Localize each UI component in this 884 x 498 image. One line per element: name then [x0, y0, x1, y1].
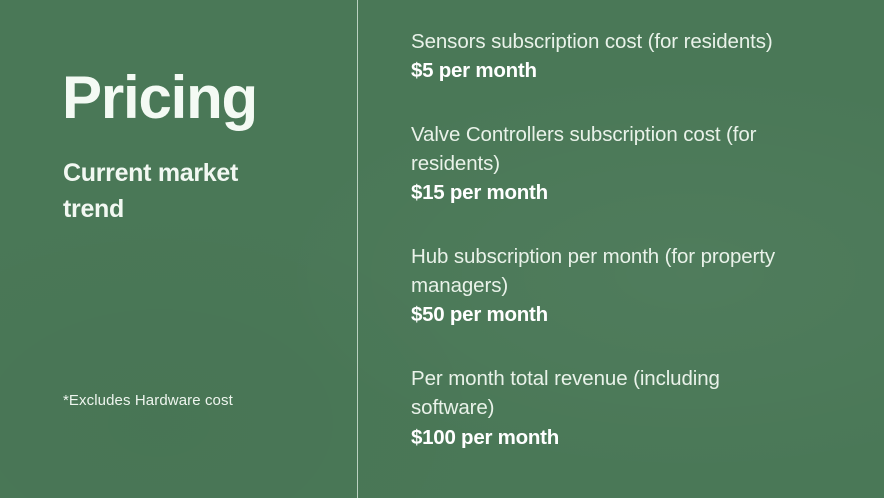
- price-label: Per month total revenue (including softw…: [411, 364, 803, 422]
- pricing-list: Sensors subscription cost (for residents…: [411, 27, 864, 452]
- price-value: $15 per month: [411, 178, 864, 208]
- price-label: Sensors subscription cost (for residents…: [411, 27, 803, 56]
- price-value: $5 per month: [411, 56, 864, 86]
- page-title: Pricing: [62, 66, 257, 129]
- pricing-slide: Pricing Current market trend *Excludes H…: [0, 0, 884, 498]
- price-value: $50 per month: [411, 300, 864, 330]
- price-label: Valve Controllers subscription cost (for…: [411, 120, 803, 178]
- column-divider: [357, 0, 358, 498]
- list-item: Valve Controllers subscription cost (for…: [411, 120, 864, 208]
- list-item: Sensors subscription cost (for residents…: [411, 27, 864, 86]
- left-column: Pricing Current market trend *Excludes H…: [0, 0, 357, 498]
- footnote-excludes-hardware: *Excludes Hardware cost: [63, 391, 233, 411]
- price-label: Hub subscription per month (for property…: [411, 242, 803, 300]
- right-column: Sensors subscription cost (for residents…: [358, 0, 884, 498]
- list-item: Per month total revenue (including softw…: [411, 364, 864, 452]
- page-subtitle: Current market trend: [63, 155, 293, 227]
- price-value: $100 per month: [411, 423, 864, 453]
- list-item: Hub subscription per month (for property…: [411, 242, 864, 330]
